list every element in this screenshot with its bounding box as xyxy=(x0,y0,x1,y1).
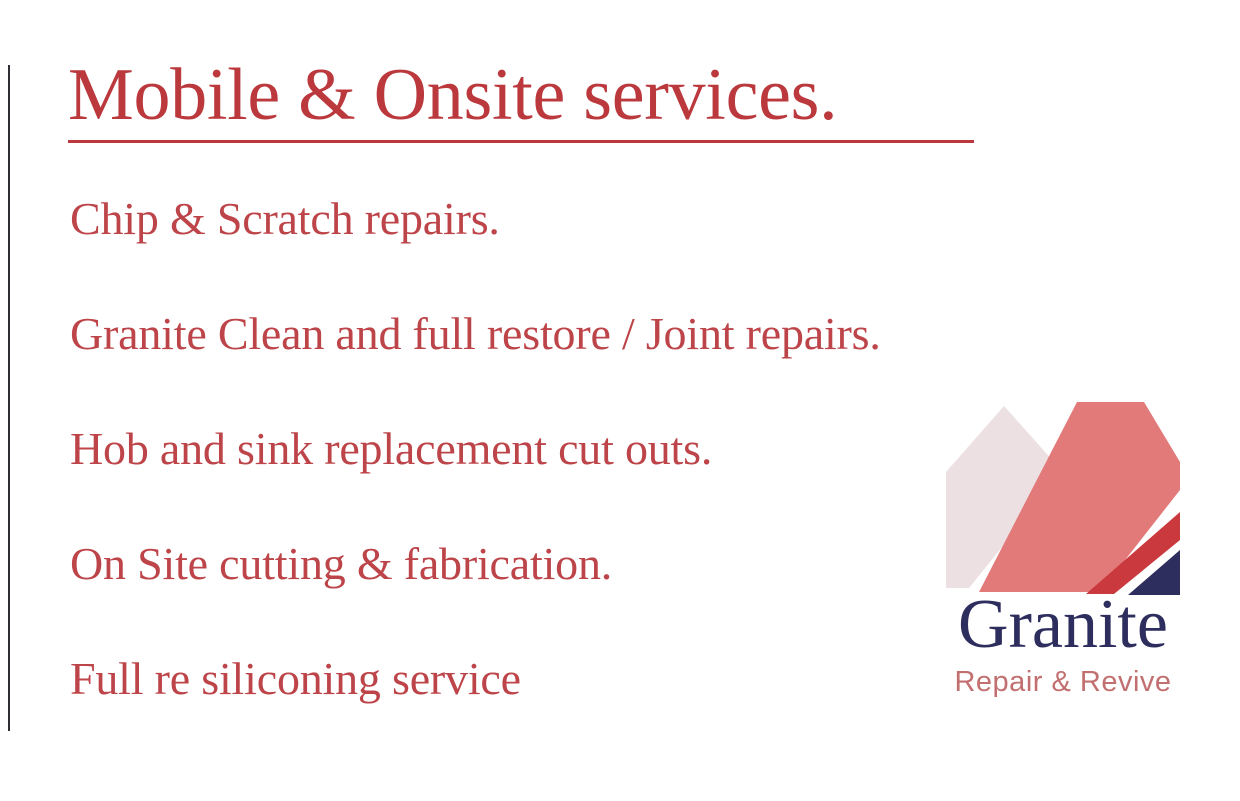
brand-logo: Granite Repair & Revive xyxy=(918,390,1208,710)
logo-wordmark: Granite xyxy=(918,590,1208,660)
service-item-chip-scratch-repairs: Chip & Scratch repairs. xyxy=(70,196,1080,311)
granite-house-mark-icon xyxy=(932,390,1194,600)
service-item-label: Full re siliconing service xyxy=(70,653,521,704)
left-vertical-rule xyxy=(8,65,10,731)
logo-tagline: Repair & Revive xyxy=(918,668,1208,697)
services-slide: Mobile & Onsite services. Chip & Scratch… xyxy=(0,0,1240,801)
page-title-underline xyxy=(68,140,974,143)
service-item-label: Granite Clean and full restore / Joint r… xyxy=(70,308,881,359)
page-title: Mobile & Onsite services. xyxy=(68,58,998,132)
service-item-label: Hob and sink replacement cut outs. xyxy=(70,423,712,474)
service-item-label: On Site cutting & fabrication. xyxy=(70,538,612,589)
page-title-block: Mobile & Onsite services. xyxy=(68,58,998,143)
service-item-label: Chip & Scratch repairs. xyxy=(70,193,500,244)
